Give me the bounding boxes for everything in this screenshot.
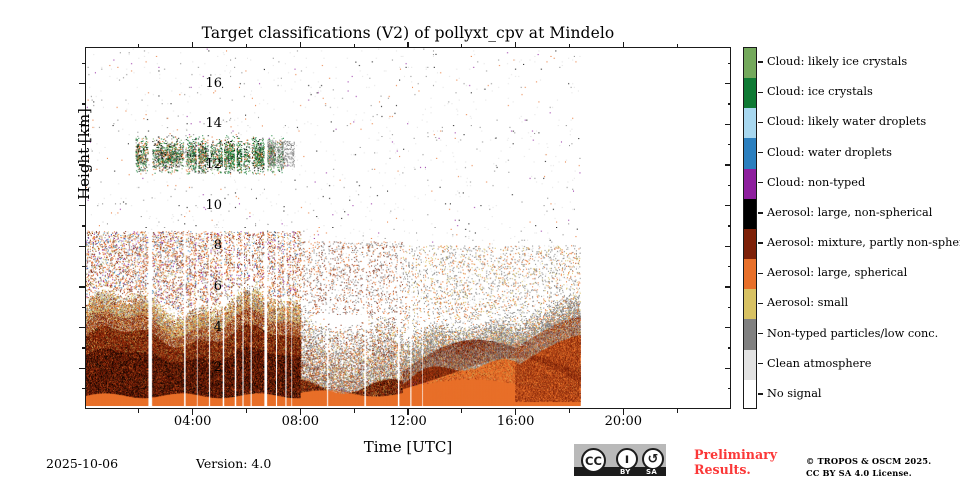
colorbar: [743, 47, 757, 409]
colorbar-tick: [758, 61, 763, 62]
colorbar-segment: [744, 199, 756, 229]
y-tick-mark: [79, 286, 85, 287]
colorbar-tick: [758, 273, 763, 274]
chart-title: Target classifications (V2) of pollyxt_c…: [85, 24, 731, 42]
plot-area[interactable]: [85, 47, 731, 409]
figure-canvas: Target classifications (V2) of pollyxt_c…: [0, 0, 960, 480]
y-tick-label: 14: [205, 117, 222, 130]
x-tick-minor: [246, 409, 247, 413]
colorbar-tick: [758, 182, 763, 183]
copyright-line-2: CC BY SA 4.0 License.: [806, 468, 931, 480]
y-tick-mark: [79, 83, 85, 84]
x-tick-minor: [138, 409, 139, 413]
x-tick-label: 08:00: [265, 414, 335, 429]
y-tick-minor-right: [728, 225, 732, 226]
y-tick-minor: [82, 307, 86, 308]
y-tick-label: 8: [214, 239, 222, 252]
colorbar-segment: [744, 169, 756, 199]
y-tick-mark-right: [725, 246, 731, 247]
x-tick-label: 04:00: [158, 414, 228, 429]
x-tick-mark-top: [300, 42, 301, 48]
y-tick-mark: [79, 205, 85, 206]
x-tick-minor: [569, 409, 570, 413]
colorbar-segment: [744, 229, 756, 259]
y-tick-minor: [82, 63, 86, 64]
colorbar-segment: [744, 138, 756, 168]
colorbar-segment: [744, 48, 756, 78]
y-tick-mark-right: [725, 164, 731, 165]
colorbar-label: Aerosol: small: [767, 297, 848, 308]
colorbar-tick: [758, 363, 763, 364]
y-tick-mark: [79, 164, 85, 165]
colorbar-segment: [744, 350, 756, 380]
y-tick-mark-right: [725, 368, 731, 369]
y-tick-label: 6: [214, 280, 222, 293]
y-tick-minor: [82, 266, 86, 267]
y-tick-mark: [79, 124, 85, 125]
footer-version: Version: 4.0: [196, 456, 271, 471]
y-tick-minor-right: [728, 63, 732, 64]
x-tick-label: 12:00: [373, 414, 443, 429]
x-tick-mark-top: [192, 42, 193, 48]
colorbar-label: No signal: [767, 388, 822, 399]
x-tick-minor-top: [246, 44, 247, 48]
y-tick-mark: [79, 368, 85, 369]
colorbar-label: Cloud: water droplets: [767, 147, 892, 158]
y-tick-mark-right: [725, 327, 731, 328]
y-tick-mark-right: [725, 124, 731, 125]
colorbar-label: Non-typed particles/low conc.: [767, 328, 938, 339]
colorbar-tick: [758, 242, 763, 243]
colorbar-tick: [758, 122, 763, 123]
y-tick-minor-right: [728, 347, 732, 348]
copyright-note: © TROPOS & OSCM 2025. CC BY SA 4.0 Licen…: [806, 456, 931, 480]
colorbar-label: Aerosol: large, spherical: [767, 267, 907, 278]
colorbar-tick: [758, 333, 763, 334]
colorbar-tick: [758, 303, 763, 304]
colorbar-tick: [758, 212, 763, 213]
preliminary-line-2: Results.: [694, 462, 777, 477]
y-tick-minor: [82, 388, 86, 389]
y-tick-minor: [82, 144, 86, 145]
y-tick-minor: [82, 103, 86, 104]
colorbar-label: Cloud: non-typed: [767, 177, 865, 188]
y-tick-minor-right: [728, 307, 732, 308]
footer-date: 2025-10-06: [46, 456, 118, 471]
colorbar-label: Cloud: ice crystals: [767, 86, 873, 97]
colorbar-segment: [744, 380, 756, 409]
copyright-line-1: © TROPOS & OSCM 2025.: [806, 456, 931, 468]
y-tick-minor-right: [728, 388, 732, 389]
x-tick-label: 16:00: [481, 414, 551, 429]
cc-license-badge[interactable]: CC ı ↺ BY SA: [574, 444, 666, 476]
colorbar-label: Aerosol: large, non-spherical: [767, 207, 932, 218]
x-tick-mark-top: [623, 42, 624, 48]
y-tick-mark-right: [725, 205, 731, 206]
y-tick-label: 2: [214, 361, 222, 374]
y-tick-minor-right: [728, 103, 732, 104]
colorbar-label: Aerosol: mixture, partly non-spherical: [767, 237, 960, 248]
y-tick-minor: [82, 347, 86, 348]
x-tick-minor: [354, 409, 355, 413]
y-tick-label: 12: [205, 158, 222, 171]
x-tick-minor-top: [461, 44, 462, 48]
colorbar-label: Clean atmosphere: [767, 358, 871, 369]
cc-logo-icon: CC: [581, 448, 606, 473]
y-tick-mark-right: [725, 83, 731, 84]
colorbar-segment: [744, 259, 756, 289]
y-tick-label: 4: [214, 321, 222, 334]
colorbar-segment: [744, 319, 756, 349]
colorbar-segment: [744, 78, 756, 108]
cc-by-caption: BY: [620, 468, 631, 476]
x-tick-label: 20:00: [588, 414, 658, 429]
colorbar-segment: [744, 289, 756, 319]
colorbar-tick: [758, 92, 763, 93]
colorbar-tick: [758, 152, 763, 153]
y-tick-minor: [82, 225, 86, 226]
colorbar-label: Cloud: likely ice crystals: [767, 56, 907, 67]
y-tick-mark: [79, 327, 85, 328]
y-tick-minor: [82, 185, 86, 186]
y-tick-label: 16: [205, 77, 222, 90]
x-tick-minor-top: [138, 44, 139, 48]
x-tick-minor-top: [569, 44, 570, 48]
cc-sa-caption: SA: [646, 468, 657, 476]
x-tick-minor-top: [354, 44, 355, 48]
preliminary-results-note: Preliminary Results.: [694, 447, 777, 478]
x-tick-mark-top: [407, 42, 408, 48]
colorbar-tick: [758, 393, 763, 394]
y-tick-mark-right: [725, 286, 731, 287]
x-tick-minor: [461, 409, 462, 413]
y-tick-minor-right: [728, 185, 732, 186]
y-tick-label: 10: [205, 199, 222, 212]
x-tick-minor: [677, 409, 678, 413]
colorbar-label: Cloud: likely water droplets: [767, 116, 926, 127]
x-tick-minor-top: [677, 44, 678, 48]
classification-heatmap: [86, 48, 730, 408]
preliminary-line-1: Preliminary: [694, 447, 777, 462]
y-tick-minor-right: [728, 144, 732, 145]
x-tick-mark-top: [515, 42, 516, 48]
colorbar-segment: [744, 108, 756, 138]
y-tick-mark: [79, 246, 85, 247]
y-axis-label: Height [km]: [75, 64, 93, 244]
y-tick-minor-right: [728, 266, 732, 267]
